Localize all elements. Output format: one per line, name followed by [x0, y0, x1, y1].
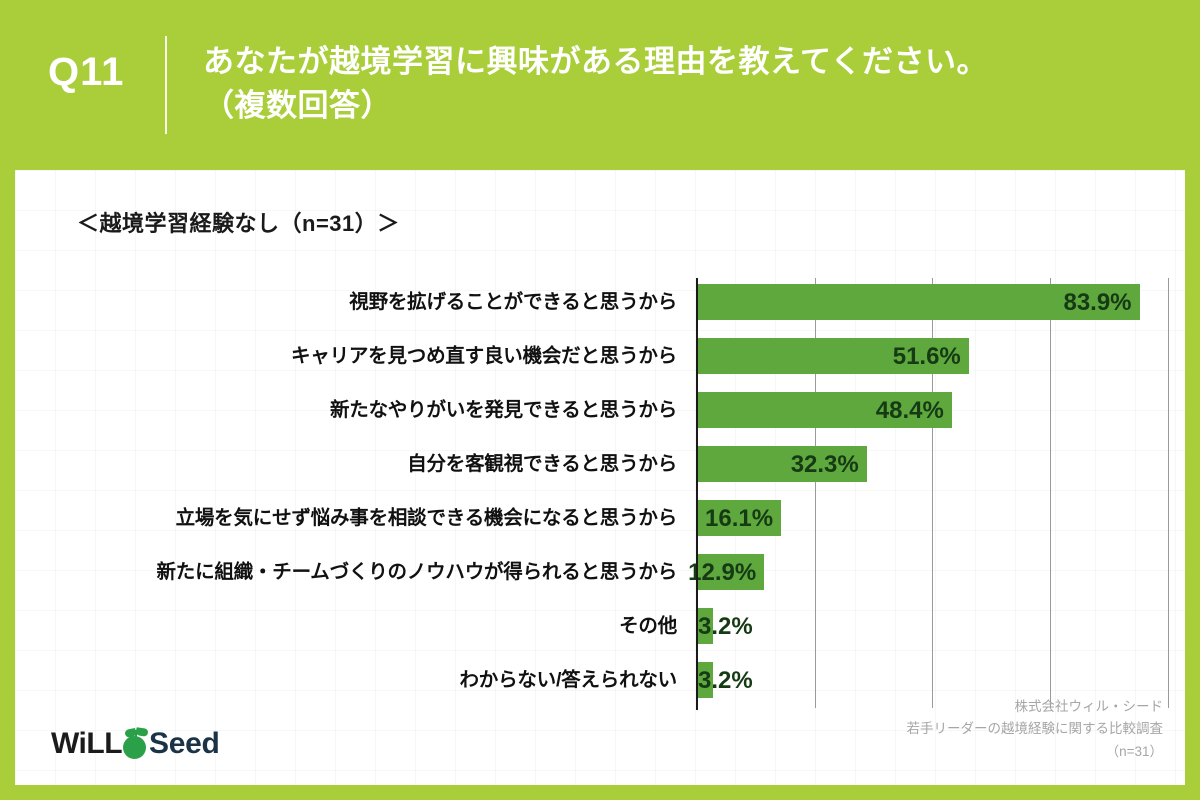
footer-survey: 若手リーダーの越境経験に関する比較調査: [907, 718, 1164, 740]
category-label: 視野を拡げることができると思うから: [349, 284, 677, 320]
category-label: 自分を客観視できると思うから: [407, 446, 677, 482]
seed-sprout-icon: [121, 729, 151, 759]
gridline-3: [1168, 278, 1169, 708]
page-title-line2: （複数回答）: [203, 84, 1163, 128]
bar-value-label: 83.9%: [1063, 284, 1131, 320]
willseed-logo: WiLL Seed: [51, 725, 220, 763]
footer-sample: （n=31）: [907, 741, 1164, 763]
header-divider: [165, 36, 167, 134]
question-number: Q11: [48, 52, 158, 92]
bar-value-label: 12.9%: [688, 554, 756, 590]
logo-left-text: WiLL: [51, 727, 122, 761]
bar-value-label: 48.4%: [876, 392, 944, 428]
category-label: 新たなやりがいを発見できると思うから: [330, 392, 677, 428]
category-label-column: 視野を拡げることができると思うからキャリアを見つめ直す良い機会だと思うから新たな…: [15, 278, 687, 708]
page-title-line1: あなたが越境学習に興味がある理由を教えてください。: [203, 44, 988, 79]
slide-root: Q11 あなたが越境学習に興味がある理由を教えてください。 （複数回答） ＜越境…: [0, 0, 1200, 800]
bar[interactable]: 32.3%: [696, 446, 867, 482]
bar[interactable]: 83.9%: [696, 284, 1140, 320]
bar[interactable]: 51.6%: [696, 338, 969, 374]
category-label: その他: [619, 608, 677, 644]
bar-value-label: 3.2%: [698, 662, 753, 698]
content-card: ＜越境学習経験なし（n=31）＞ 視野を拡げることができると思うからキャリアを見…: [15, 170, 1185, 785]
category-label: 立場を気にせず悩み事を相談できる機会になると思うから: [176, 500, 677, 536]
bar[interactable]: 12.9%: [696, 554, 764, 590]
bar[interactable]: 48.4%: [696, 392, 952, 428]
bar[interactable]: 16.1%: [696, 500, 781, 536]
bar-chart: 視野を拡げることができると思うからキャリアを見つめ直す良い機会だと思うから新たな…: [15, 170, 1185, 785]
category-label: キャリアを見つめ直す良い機会だと思うから: [291, 338, 677, 374]
bar-value-label: 51.6%: [893, 338, 961, 374]
y-axis-line: [696, 278, 698, 710]
gridline-2: [1050, 278, 1051, 708]
plot-area: 83.9%51.6%48.4%32.3%16.1%12.9%3.2%3.2%: [696, 278, 1185, 708]
category-label: 新たに組織・チームづくりのノウハウが得られると思うから: [156, 554, 677, 590]
footer-note: 株式会社ウィル・シード 若手リーダーの越境経験に関する比較調査 （n=31）: [907, 696, 1164, 763]
logo-right-text: Seed: [149, 727, 220, 761]
header-band: Q11 あなたが越境学習に興味がある理由を教えてください。 （複数回答）: [0, 0, 1200, 170]
page-title: あなたが越境学習に興味がある理由を教えてください。 （複数回答）: [203, 40, 1163, 128]
bar-value-label: 16.1%: [705, 500, 773, 536]
bar-value-label: 3.2%: [698, 608, 753, 644]
bar-value-label: 32.3%: [791, 446, 859, 482]
footer-company: 株式会社ウィル・シード: [907, 696, 1164, 718]
category-label: わからない/答えられない: [459, 662, 677, 698]
